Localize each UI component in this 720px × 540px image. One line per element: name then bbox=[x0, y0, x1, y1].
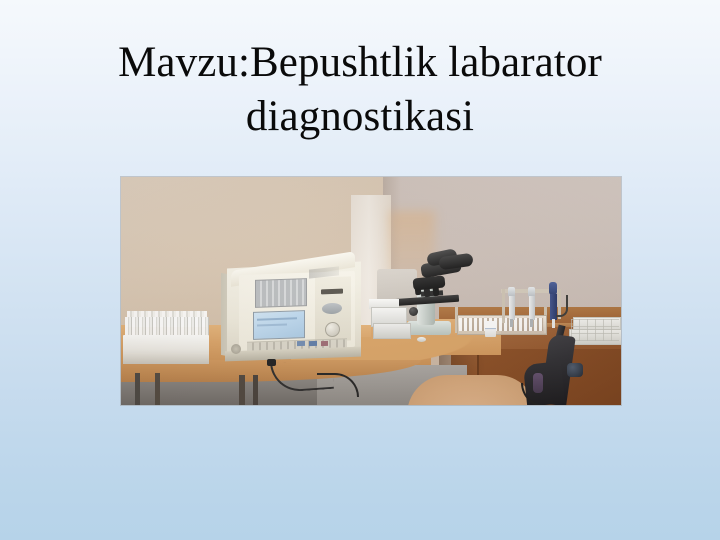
tray-compartments bbox=[571, 319, 619, 341]
pipette-tip bbox=[510, 319, 513, 327]
desk-leg bbox=[239, 375, 245, 405]
desk-leg bbox=[253, 375, 258, 405]
title-line-2: diagnostikasi bbox=[60, 90, 660, 144]
slide-box bbox=[373, 323, 411, 339]
analyzer-slot bbox=[321, 289, 343, 295]
analyzer-button bbox=[321, 341, 328, 346]
pipette-tip bbox=[552, 319, 555, 328]
laboratory-photo bbox=[121, 177, 621, 405]
analyzer-button bbox=[309, 341, 317, 346]
analyzer-button bbox=[297, 341, 305, 346]
reagent-bottle bbox=[485, 321, 496, 337]
desk-leg bbox=[135, 373, 140, 405]
microscope-focus-knob bbox=[409, 307, 418, 316]
pipette-body bbox=[529, 296, 535, 320]
presentation-slide: Mavzu:Bepushtlik labarator diagnostikasi bbox=[0, 0, 720, 540]
pipette-tip bbox=[530, 319, 533, 327]
test-tube-rack-side bbox=[123, 353, 209, 364]
slide-title: Mavzu:Bepushtlik labarator diagnostikasi bbox=[60, 36, 660, 144]
analyzer-foot bbox=[231, 344, 241, 354]
analyzer-keypad bbox=[255, 278, 307, 308]
cable-plug bbox=[267, 359, 276, 366]
desk-leg bbox=[155, 373, 160, 405]
pipette-hook bbox=[556, 295, 568, 317]
pipette-stand-leg bbox=[502, 289, 505, 323]
small-round-object bbox=[417, 337, 426, 342]
title-line-1: Mavzu:Bepushtlik labarator bbox=[60, 36, 660, 90]
dark-knob bbox=[567, 363, 583, 377]
pipette-body bbox=[509, 296, 515, 320]
